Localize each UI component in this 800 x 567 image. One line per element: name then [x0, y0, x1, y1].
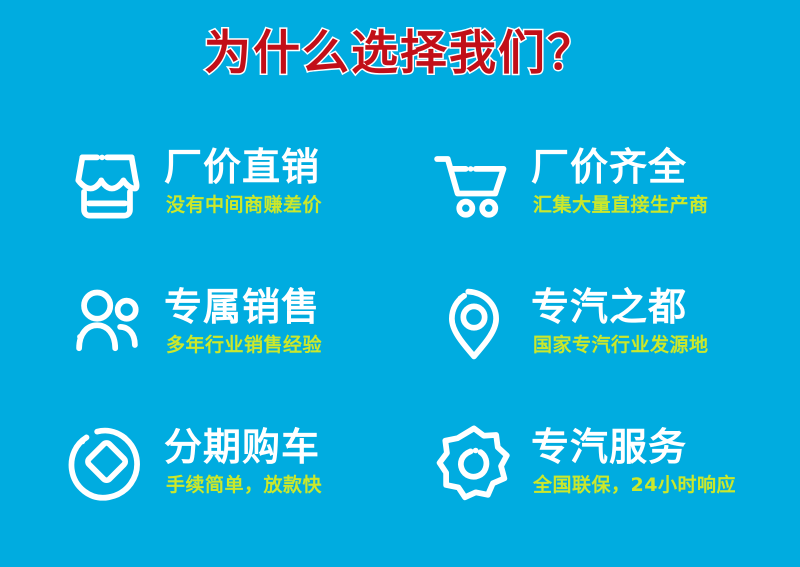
- feature-heading: 厂价齐全: [531, 147, 709, 187]
- feature-subtitle: 多年行业销售经验: [166, 334, 322, 357]
- feature-subtitle: 没有中间商赚差价: [166, 194, 322, 217]
- feature-item-dedicated-sales: 专属销售 多年行业销售经验: [0, 252, 395, 392]
- page-title: 为什么选择我们？: [204, 26, 596, 81]
- shopping-cart-icon: [433, 141, 515, 223]
- feature-subtitle: 国家专汽行业发源地: [533, 334, 709, 357]
- feature-subtitle: 全国联保，24小时响应: [533, 474, 736, 497]
- feature-text-block: 专汽服务 全国联保，24小时响应: [531, 427, 736, 497]
- two-people-icon: [66, 281, 148, 363]
- features-grid: 厂价直销 没有中间商赚差价 厂价齐全 汇集大量直接生产商: [0, 112, 800, 532]
- feature-subtitle: 手续简单，放款快: [166, 474, 322, 497]
- feature-text-block: 厂价齐全 汇集大量直接生产商: [531, 147, 709, 217]
- feature-text-block: 专汽之都 国家专汽行业发源地: [531, 287, 709, 357]
- feature-item-installment: 分期购车 手续简单，放款快: [0, 392, 395, 532]
- page-title-container: 为什么选择我们？: [0, 26, 800, 81]
- feature-heading: 专汽服务: [531, 427, 736, 467]
- storefront-icon: [66, 141, 148, 223]
- feature-item-full-catalog: 厂价齐全 汇集大量直接生产商: [395, 112, 800, 252]
- feature-text-block: 分期购车 手续简单，放款快: [164, 427, 322, 497]
- feature-heading: 厂价直销: [164, 147, 322, 187]
- feature-subtitle: 汇集大量直接生产商: [533, 194, 709, 217]
- map-pin-icon: [433, 281, 515, 363]
- feature-text-block: 专属销售 多年行业销售经验: [164, 287, 322, 357]
- feature-item-auto-city: 专汽之都 国家专汽行业发源地: [395, 252, 800, 392]
- feature-heading: 专汽之都: [531, 287, 709, 327]
- feature-heading: 专属销售: [164, 287, 322, 327]
- gear-icon: [433, 421, 515, 503]
- feature-heading: 分期购车: [164, 427, 322, 467]
- feature-text-block: 厂价直销 没有中间商赚差价: [164, 147, 322, 217]
- feature-item-service: 专汽服务 全国联保，24小时响应: [395, 392, 800, 532]
- promo-poster: 为什么选择我们？ 厂价直销 没有中间商赚差价: [0, 0, 800, 567]
- feature-item-factory-direct: 厂价直销 没有中间商赚差价: [0, 112, 395, 252]
- circle-diamond-icon: [66, 421, 148, 503]
